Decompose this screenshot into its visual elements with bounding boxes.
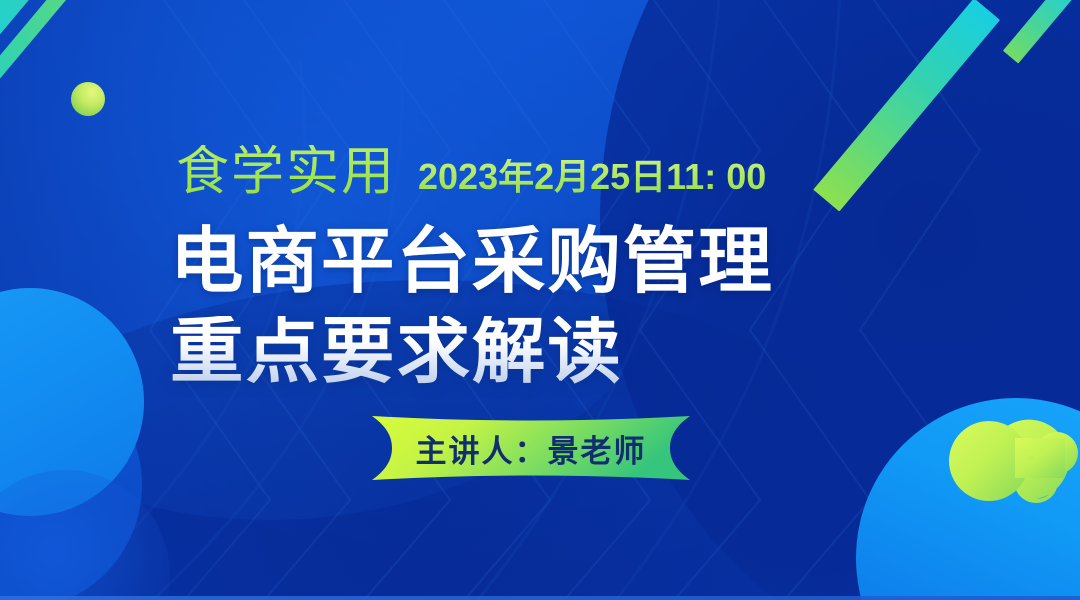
page-title-line-2: 重点要求解读 <box>170 316 623 388</box>
speaker-label: 主讲人：景老师 <box>358 414 704 482</box>
kicker-row: 食学实用 2023年2月25日11: 00 <box>176 145 766 198</box>
page-title-line-1: 电商平台采购管理 <box>170 226 774 298</box>
kicker-text: 食学实用 <box>176 145 396 198</box>
poster-content: 食学实用 2023年2月25日11: 00 电商平台采购管理 重点要求解读 主讲… <box>0 0 1080 600</box>
event-datetime: 2023年2月25日11: 00 <box>418 159 766 195</box>
speaker-ribbon: 主讲人：景老师 <box>358 414 704 482</box>
poster-canvas: 食学实用 2023年2月25日11: 00 电商平台采购管理 重点要求解读 主讲… <box>0 0 1080 600</box>
